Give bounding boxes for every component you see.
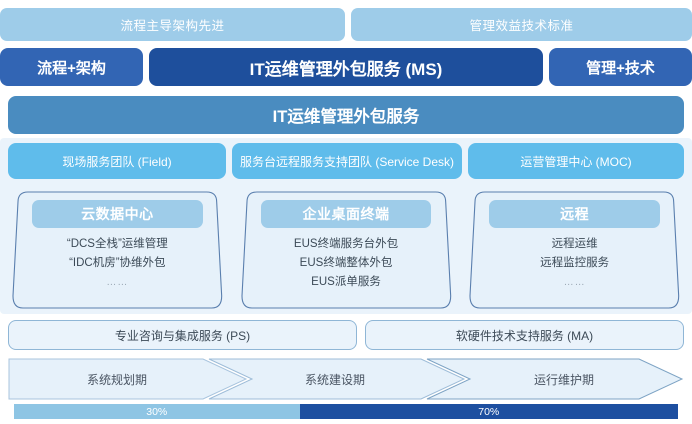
percent-segment-left: 30% xyxy=(14,404,300,419)
value-prop-1-label: 流程主导架构先进 xyxy=(120,15,224,34)
value-prop-1: 流程主导架构先进 xyxy=(0,8,345,41)
phase-construction-label: 系统建设期 xyxy=(305,371,365,388)
phase-operation: 运行维护期 xyxy=(444,358,684,400)
card-line: EUS派单服务 xyxy=(311,275,381,290)
card-title-label: 云数据中心 xyxy=(81,204,154,224)
card-lines: “DCS全栈”运维管理 “IDC机房”协维外包 …… xyxy=(67,237,168,290)
support-service-ma-label: 软硬件技术支持服务 (MA) xyxy=(456,327,593,344)
ms-right-pill: 管理+技术 xyxy=(549,48,692,86)
support-service-ps: 专业咨询与集成服务 (PS) xyxy=(8,320,357,350)
team-service-desk-label: 服务台远程服务支持团队 (Service Desk) xyxy=(240,153,454,170)
card-content: 远程 远程运维 远程监控服务 …… xyxy=(465,190,684,310)
headline-band: IT运维管理外包服务 xyxy=(8,96,684,134)
ms-center-label: IT运维管理外包服务 (MS) xyxy=(250,55,443,80)
card-title-remote: 远程 xyxy=(489,200,660,228)
card-title-label: 企业桌面终端 xyxy=(303,204,390,224)
phase-construction: 系统建设期 xyxy=(226,358,444,400)
team-field: 现场服务团队 (Field) xyxy=(8,143,226,179)
ms-right-label: 管理+技术 xyxy=(586,57,655,78)
support-service-ps-label: 专业咨询与集成服务 (PS) xyxy=(115,327,250,344)
card-line: EUS终端整体外包 xyxy=(300,256,393,271)
percent-left-label: 30% xyxy=(146,406,167,418)
diagram-root: 流程主导架构先进 管理效益技术标准 流程+架构 IT运维管理外包服务 (MS) … xyxy=(0,0,692,424)
support-services-row: 专业咨询与集成服务 (PS) 软硬件技术支持服务 (MA) xyxy=(8,320,684,350)
card-title-enterprise-desktop: 企业桌面终端 xyxy=(261,200,432,228)
ms-center-pill: IT运维管理外包服务 (MS) xyxy=(149,48,543,86)
headline-label: IT运维管理外包服务 xyxy=(273,103,420,127)
card-line: “IDC机房”协维外包 xyxy=(69,256,165,271)
ms-service-row: 流程+架构 IT运维管理外包服务 (MS) 管理+技术 xyxy=(0,48,692,86)
ms-left-label: 流程+架构 xyxy=(37,57,106,78)
card-line: 远程运维 xyxy=(552,237,598,252)
team-moc: 运营管理中心 (MOC) xyxy=(468,143,684,179)
service-cards-row: 云数据中心 “DCS全栈”运维管理 “IDC机房”协维外包 …… 企业桌面终端 … xyxy=(8,190,684,310)
value-props-row: 流程主导架构先进 管理效益技术标准 xyxy=(0,8,692,41)
card-line-ellipsis: …… xyxy=(564,275,586,290)
card-line: 远程监控服务 xyxy=(540,256,609,271)
support-service-ma: 软硬件技术支持服务 (MA) xyxy=(365,320,684,350)
card-lines: EUS终端服务台外包 EUS终端整体外包 EUS派单服务 xyxy=(294,237,398,290)
card-content: 云数据中心 “DCS全栈”运维管理 “IDC机房”协维外包 …… xyxy=(8,190,227,310)
percent-right-label: 70% xyxy=(478,406,499,418)
percent-segment-right: 70% xyxy=(300,404,678,419)
service-card-remote: 远程 远程运维 远程监控服务 …… xyxy=(465,190,684,310)
ms-left-pill: 流程+架构 xyxy=(0,48,143,86)
card-title-label: 远程 xyxy=(560,204,589,224)
phases-row: 系统规划期 系统建设期 运行维护期 xyxy=(8,358,684,400)
card-line-ellipsis: …… xyxy=(106,275,128,290)
phase-planning: 系统规划期 xyxy=(8,358,226,400)
percent-bar: 30% 70% xyxy=(14,404,678,419)
card-title-cloud-datacenter: 云数据中心 xyxy=(32,200,203,228)
card-line: EUS终端服务台外包 xyxy=(294,237,398,252)
card-line: “DCS全栈”运维管理 xyxy=(67,237,168,252)
team-moc-label: 运营管理中心 (MOC) xyxy=(520,153,631,170)
service-card-cloud-datacenter: 云数据中心 “DCS全栈”运维管理 “IDC机房”协维外包 …… xyxy=(8,190,227,310)
teams-row: 现场服务团队 (Field) 服务台远程服务支持团队 (Service Desk… xyxy=(8,143,684,179)
phase-planning-label: 系统规划期 xyxy=(87,371,147,388)
team-field-label: 现场服务团队 (Field) xyxy=(62,153,171,170)
card-lines: 远程运维 远程监控服务 …… xyxy=(540,237,609,290)
team-service-desk: 服务台远程服务支持团队 (Service Desk) xyxy=(232,143,462,179)
service-card-enterprise-desktop: 企业桌面终端 EUS终端服务台外包 EUS终端整体外包 EUS派单服务 xyxy=(237,190,456,310)
value-prop-2-label: 管理效益技术标准 xyxy=(469,15,573,34)
phase-operation-label: 运行维护期 xyxy=(534,371,594,388)
card-content: 企业桌面终端 EUS终端服务台外包 EUS终端整体外包 EUS派单服务 xyxy=(237,190,456,310)
value-prop-2: 管理效益技术标准 xyxy=(351,8,692,41)
